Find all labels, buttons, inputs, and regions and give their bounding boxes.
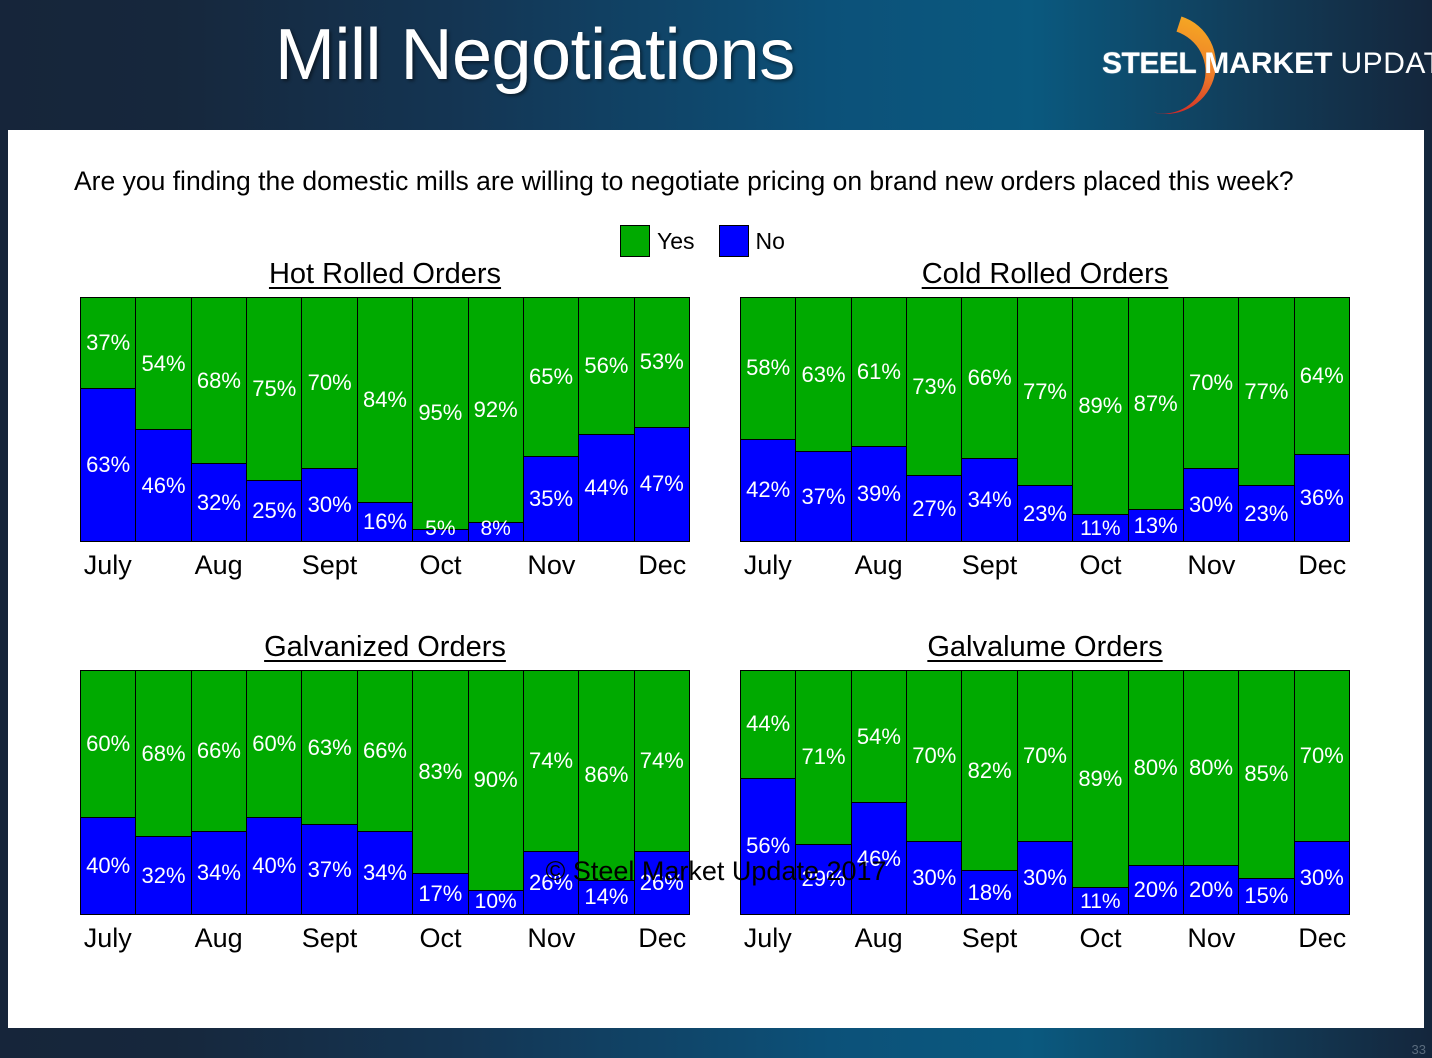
chart-legend: Yes No [620, 225, 785, 257]
bar-segment-yes[interactable]: 60% [81, 671, 135, 817]
bar-value-label-yes: 70% [1189, 372, 1233, 394]
chart-title: Cold Rolled Orders [740, 258, 1350, 291]
bar-segment-no[interactable]: 5% [413, 529, 467, 541]
chart-galvalume-orders: Galvalume Orders44%56%71%29%54%46%70%30%… [740, 631, 1350, 963]
bar-value-label-yes: 71% [802, 746, 846, 768]
bar-value-label-no: 37% [802, 486, 846, 508]
bar-value-label-no: 23% [1023, 503, 1067, 525]
x-axis-tick-label: Nov [527, 550, 575, 581]
bar-value-label-no: 46% [142, 475, 186, 497]
bar-segment-yes[interactable]: 63% [796, 298, 850, 451]
bar-segment-no[interactable]: 11% [1073, 514, 1127, 541]
bar-segment-no[interactable]: 13% [1129, 509, 1183, 541]
bar-segment-yes[interactable]: 65% [524, 298, 578, 456]
bar-segment-yes[interactable]: 70% [302, 298, 356, 468]
logo-word-steel: STEEL [1102, 47, 1196, 80]
bar-segment-no[interactable]: 46% [136, 429, 190, 541]
bar-segment-yes[interactable]: 68% [136, 671, 190, 836]
bar-value-label-yes: 82% [968, 760, 1012, 782]
bar-value-label-yes: 61% [857, 361, 901, 383]
legend-label-no: No [756, 228, 785, 255]
bar-value-label-yes: 63% [308, 737, 352, 759]
bar-value-label-no: 23% [1244, 503, 1288, 525]
bar-segment-yes[interactable]: 66% [192, 671, 246, 831]
bar-segment-no[interactable]: 8% [469, 522, 523, 541]
x-axis-tick-label: July [84, 550, 132, 581]
x-axis: JulyAugSeptOctNovDec [80, 923, 690, 963]
bar-value-label-no: 30% [308, 494, 352, 516]
chart-title: Galvanized Orders [80, 631, 690, 664]
x-axis-tick-label: Oct [1079, 550, 1121, 581]
x-axis: JulyAugSeptOctNovDec [740, 923, 1350, 963]
bar-value-label-no: 56% [746, 835, 790, 857]
bar-value-label-no: 16% [363, 511, 407, 533]
bar-value-label-no: 32% [197, 492, 241, 514]
stacked-bar[interactable]: 65%35% [524, 298, 579, 541]
bar-segment-yes[interactable]: 68% [192, 298, 246, 463]
bar-value-label-yes: 60% [252, 733, 296, 755]
chart-hot-rolled-orders: Hot Rolled Orders37%63%54%46%68%32%75%25… [80, 258, 690, 590]
bar-segment-yes[interactable]: 70% [1184, 298, 1238, 468]
bar-value-label-yes: 66% [968, 367, 1012, 389]
legend-swatch-blue-icon [719, 225, 749, 257]
plot-area: 58%42%63%37%61%39%73%27%66%34%77%23%89%1… [740, 297, 1350, 542]
bar-segment-no[interactable]: 44% [579, 434, 633, 541]
bar-value-label-yes: 54% [857, 726, 901, 748]
bar-value-label-no: 44% [584, 477, 628, 499]
bar-value-label-yes: 92% [474, 399, 518, 421]
x-axis-tick-label: Nov [527, 923, 575, 954]
legend-label-yes: Yes [657, 228, 695, 255]
slide: Mill Negotiations STEELMARKETUPDATE Are … [0, 0, 1432, 1058]
stacked-bar[interactable]: 77%23% [1239, 298, 1294, 541]
stacked-bar[interactable]: 61%39% [852, 298, 907, 541]
stacked-bar[interactable]: 56%44% [579, 298, 634, 541]
bar-segment-yes[interactable]: 63% [302, 671, 356, 824]
stacked-bar[interactable]: 64%36% [1295, 298, 1349, 541]
stacked-bar[interactable]: 68%32% [192, 298, 247, 541]
bar-segment-no[interactable]: 39% [852, 446, 906, 541]
logo-word-update: UPDATE [1341, 47, 1432, 80]
bar-segment-yes[interactable]: 77% [1239, 298, 1293, 485]
bar-value-label-yes: 68% [197, 370, 241, 392]
bar-segment-no[interactable]: 10% [469, 890, 523, 914]
bar-segment-no[interactable]: 37% [796, 451, 850, 541]
stacked-bar[interactable]: 58%42% [741, 298, 796, 541]
bar-segment-yes[interactable]: 89% [1073, 298, 1127, 514]
x-axis-tick-label: Aug [855, 550, 903, 581]
bar-value-label-yes: 89% [1078, 395, 1122, 417]
bar-segment-no[interactable]: 23% [1239, 485, 1293, 541]
bar-value-label-yes: 68% [142, 743, 186, 765]
steel-market-update-logo: STEELMARKETUPDATE [1090, 8, 1426, 120]
bar-segment-no[interactable]: 56% [741, 778, 795, 914]
x-axis-tick-label: Oct [419, 550, 461, 581]
chart-cold-rolled-orders: Cold Rolled Orders58%42%63%37%61%39%73%2… [740, 258, 1350, 590]
stacked-bar[interactable]: 89%11% [1073, 298, 1128, 541]
stacked-bar[interactable]: 92%8% [469, 298, 524, 541]
bar-segment-no[interactable]: 36% [1295, 454, 1349, 541]
bar-segment-yes[interactable]: 82% [962, 671, 1016, 870]
bar-value-label-yes: 56% [584, 355, 628, 377]
x-axis-tick-label: Dec [1298, 550, 1346, 581]
bar-segment-yes[interactable]: 44% [741, 671, 795, 778]
bar-value-label-no: 13% [1134, 515, 1178, 537]
bar-segment-yes[interactable]: 74% [524, 671, 578, 851]
bar-segment-no[interactable]: 35% [524, 456, 578, 541]
page-title: Mill Negotiations [275, 14, 795, 96]
bar-value-label-yes: 85% [1244, 763, 1288, 785]
bar-value-label-yes: 54% [142, 353, 186, 375]
bar-segment-yes[interactable]: 95% [413, 298, 467, 529]
bar-segment-no[interactable]: 11% [1073, 887, 1127, 914]
chart-title: Galvalume Orders [740, 631, 1350, 664]
bar-segment-no[interactable]: 23% [1018, 485, 1072, 541]
bar-segment-yes[interactable]: 87% [1129, 298, 1183, 509]
bar-value-label-no: 42% [746, 479, 790, 501]
bar-value-label-yes: 66% [197, 740, 241, 762]
stacked-bar[interactable]: 54%46% [136, 298, 191, 541]
bar-segment-yes[interactable]: 86% [579, 671, 633, 880]
bar-segment-no[interactable]: 34% [962, 458, 1016, 541]
bar-value-label-no: 11% [1080, 891, 1120, 912]
x-axis-tick-label: Sept [962, 923, 1018, 954]
plot-area: 37%63%54%46%68%32%75%25%70%30%84%16%95%5… [80, 297, 690, 542]
bar-value-label-no: 15% [1244, 885, 1288, 907]
bar-segment-no[interactable]: 16% [358, 502, 412, 541]
bar-value-label-yes: 89% [1078, 768, 1122, 790]
bar-segment-yes[interactable]: 54% [852, 671, 906, 802]
bar-value-label-yes: 74% [529, 750, 573, 772]
bar-value-label-yes: 86% [584, 764, 628, 786]
stacked-bar[interactable]: 95%5% [413, 298, 468, 541]
bar-segment-yes[interactable]: 66% [358, 671, 412, 831]
slide-header: Mill Negotiations STEELMARKETUPDATE [0, 0, 1432, 128]
x-axis-tick-label: Aug [195, 923, 243, 954]
bar-segment-yes[interactable]: 89% [1073, 671, 1127, 887]
bar-segment-yes[interactable]: 54% [136, 298, 190, 429]
bar-value-label-yes: 66% [363, 740, 407, 762]
x-axis-tick-label: Aug [195, 550, 243, 581]
bar-segment-no[interactable]: 30% [1184, 468, 1238, 541]
stacked-bar[interactable]: 75%25% [247, 298, 302, 541]
stacked-bar[interactable]: 73%27% [907, 298, 962, 541]
bar-segment-yes[interactable]: 53% [635, 298, 689, 427]
bar-value-label-yes: 80% [1134, 757, 1178, 779]
x-axis-tick-label: Dec [638, 550, 686, 581]
bar-value-label-no: 35% [529, 488, 573, 510]
bar-segment-yes[interactable]: 70% [1018, 671, 1072, 841]
bar-value-label-yes: 90% [474, 769, 518, 791]
x-axis-tick-label: Dec [638, 923, 686, 954]
bar-value-label-yes: 65% [529, 366, 573, 388]
x-axis-tick-label: July [84, 923, 132, 954]
copyright-notice: © Steel Market Update 2017 [8, 856, 1424, 887]
bar-value-label-yes: 63% [802, 364, 846, 386]
bar-segment-yes[interactable]: 74% [635, 671, 689, 851]
bar-value-label-no: 5% [425, 518, 455, 539]
bar-value-label-yes: 70% [1023, 745, 1067, 767]
chart-title: Hot Rolled Orders [80, 258, 690, 291]
bar-value-label-yes: 64% [1300, 365, 1344, 387]
x-axis: JulyAugSeptOctNovDec [80, 550, 690, 590]
bar-value-label-yes: 75% [252, 378, 296, 400]
bar-segment-yes[interactable]: 80% [1184, 671, 1238, 865]
stacked-bar[interactable]: 70%30% [1184, 298, 1239, 541]
bar-value-label-yes: 37% [86, 332, 130, 354]
page-number: 33 [1412, 1042, 1426, 1057]
x-axis-tick-label: Sept [302, 923, 358, 954]
bar-segment-no[interactable]: 30% [302, 468, 356, 541]
bar-value-label-yes: 83% [418, 761, 462, 783]
bar-value-label-no: 36% [1300, 487, 1344, 509]
legend-swatch-green-icon [620, 225, 650, 257]
bar-segment-yes[interactable]: 77% [1018, 298, 1072, 485]
bar-segment-no[interactable]: 42% [741, 439, 795, 541]
bar-value-label-yes: 58% [746, 357, 790, 379]
bar-segment-yes[interactable]: 80% [1129, 671, 1183, 865]
bar-value-label-yes: 70% [912, 745, 956, 767]
bar-value-label-no: 39% [857, 483, 901, 505]
stacked-bar[interactable]: 63%37% [796, 298, 851, 541]
x-axis-tick-label: July [744, 923, 792, 954]
bar-segment-yes[interactable]: 70% [1295, 671, 1349, 841]
stacked-bar[interactable]: 84%16% [358, 298, 413, 541]
bar-value-label-no: 63% [86, 454, 130, 476]
stacked-bar[interactable]: 66%34% [962, 298, 1017, 541]
bar-value-label-no: 14% [584, 886, 628, 908]
x-axis: JulyAugSeptOctNovDec [740, 550, 1350, 590]
bar-value-label-yes: 53% [640, 351, 684, 373]
stacked-bar[interactable]: 77%23% [1018, 298, 1073, 541]
bar-value-label-yes: 87% [1134, 393, 1178, 415]
bar-value-label-yes: 95% [418, 402, 462, 424]
bar-value-label-yes: 60% [86, 733, 130, 755]
bar-segment-no[interactable]: 47% [635, 427, 689, 541]
chart-galvanized-orders: Galvanized Orders60%40%68%32%66%34%60%40… [80, 631, 690, 963]
bar-segment-yes[interactable]: 37% [81, 298, 135, 388]
bar-segment-yes[interactable]: 83% [413, 671, 467, 873]
stacked-bar[interactable]: 70%30% [302, 298, 357, 541]
bar-segment-yes[interactable]: 75% [247, 298, 301, 480]
x-axis-tick-label: Oct [419, 923, 461, 954]
logo-word-market: MARKET [1204, 47, 1332, 80]
bar-value-label-no: 11% [1080, 518, 1120, 539]
bar-value-label-yes: 70% [1300, 745, 1344, 767]
x-axis-tick-label: Oct [1079, 923, 1121, 954]
bar-value-label-no: 10% [475, 891, 517, 912]
x-axis-tick-label: Sept [302, 550, 358, 581]
bar-segment-yes[interactable]: 85% [1239, 671, 1293, 878]
bar-value-label-yes: 77% [1023, 381, 1067, 403]
stacked-bar[interactable]: 53%47% [635, 298, 689, 541]
x-axis-tick-label: Dec [1298, 923, 1346, 954]
slide-content-panel: Are you finding the domestic mills are w… [8, 130, 1424, 1028]
bar-segment-yes[interactable]: 58% [741, 298, 795, 439]
bar-segment-yes[interactable]: 56% [579, 298, 633, 434]
bar-value-label-no: 30% [1189, 494, 1233, 516]
x-axis-tick-label: Sept [962, 550, 1018, 581]
stacked-bar[interactable]: 87%13% [1129, 298, 1184, 541]
bar-segment-no[interactable]: 25% [247, 480, 301, 541]
bar-segment-no[interactable]: 27% [907, 475, 961, 541]
bar-segment-yes[interactable]: 92% [469, 298, 523, 522]
bar-value-label-yes: 44% [746, 713, 790, 735]
bar-value-label-yes: 80% [1189, 757, 1233, 779]
bar-segment-yes[interactable]: 70% [907, 671, 961, 841]
legend-item-yes: Yes [620, 225, 695, 257]
bar-segment-yes[interactable]: 84% [358, 298, 412, 502]
bar-value-label-no: 27% [912, 498, 956, 520]
bar-segment-yes[interactable]: 64% [1295, 298, 1349, 454]
x-axis-tick-label: Aug [855, 923, 903, 954]
legend-item-no: No [719, 225, 785, 257]
x-axis-tick-label: July [744, 550, 792, 581]
bar-segment-no[interactable]: 63% [81, 388, 135, 541]
bar-segment-yes[interactable]: 66% [962, 298, 1016, 458]
logo-wordmark: STEELMARKETUPDATE [1102, 48, 1432, 80]
bar-value-label-yes: 77% [1244, 381, 1288, 403]
survey-question: Are you finding the domestic mills are w… [74, 166, 1294, 197]
bar-segment-yes[interactable]: 60% [247, 671, 301, 817]
bar-segment-no[interactable]: 32% [192, 463, 246, 541]
bar-value-label-yes: 74% [640, 750, 684, 772]
bar-value-label-yes: 70% [308, 372, 352, 394]
bar-segment-yes[interactable]: 73% [907, 298, 961, 475]
bar-value-label-no: 47% [640, 473, 684, 495]
x-axis-tick-label: Nov [1187, 550, 1235, 581]
bar-segment-yes[interactable]: 71% [796, 671, 850, 844]
stacked-bar[interactable]: 37%63% [81, 298, 136, 541]
bar-value-label-no: 25% [252, 500, 296, 522]
bar-value-label-yes: 84% [363, 389, 407, 411]
bar-segment-yes[interactable]: 61% [852, 298, 906, 446]
bar-value-label-no: 34% [968, 489, 1012, 511]
bar-value-label-no: 8% [481, 518, 511, 539]
bar-value-label-yes: 73% [912, 376, 956, 398]
x-axis-tick-label: Nov [1187, 923, 1235, 954]
